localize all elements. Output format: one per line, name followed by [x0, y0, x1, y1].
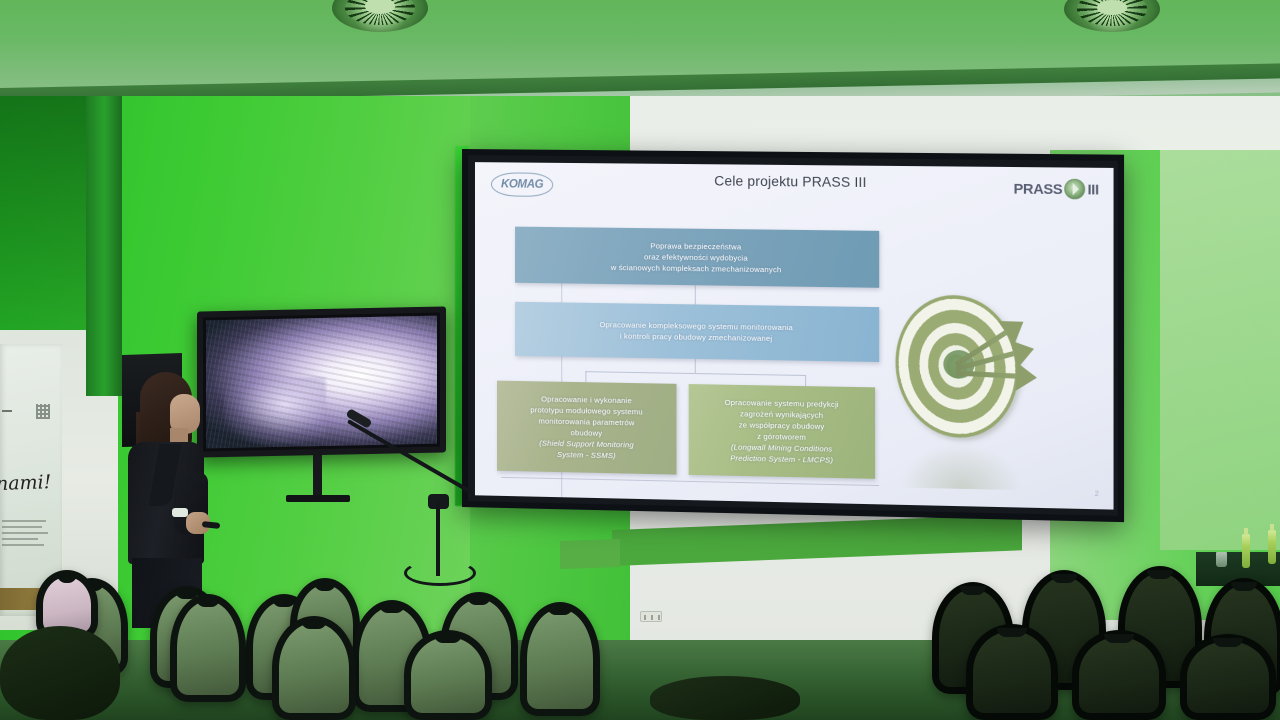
banner-qr-icon: [36, 404, 50, 419]
chair[interactable]: [966, 624, 1058, 720]
monitor-stand-pole: [313, 455, 322, 497]
slide-box-task-ssms: Opracowanie i wykonanie prototypu moduło…: [497, 381, 676, 475]
connector-a-b: [695, 285, 696, 304]
connector-to-c: [585, 371, 586, 382]
microphone-tripod-base: [404, 560, 476, 586]
prass-logo-numeral: III: [1088, 181, 1099, 198]
monitor-stand-base: [286, 495, 350, 502]
chair[interactable]: [520, 602, 600, 716]
box-line-italic: Prediction System - LMCPS): [730, 452, 833, 465]
monitor-noise: [206, 316, 437, 449]
connector-to-d: [805, 375, 806, 386]
prass-logo-text: PRASS: [1014, 180, 1063, 197]
projection-screen[interactable]: KOMAG Cele projektu PRASS III PRASS III …: [462, 149, 1124, 522]
wall-pillar: [86, 96, 122, 396]
dartboard-target-icon: [896, 286, 1060, 467]
box-line: i kontroli pracy obudowy zmechanizowanej: [620, 330, 773, 344]
slide-footer-rule: [501, 477, 879, 486]
box-line: ze współpracy obudowy: [739, 419, 825, 432]
water-bottle: [1242, 534, 1250, 568]
banner-body-lines: [2, 520, 48, 550]
banner-dash: [2, 410, 12, 412]
target-play-icon: [1064, 179, 1085, 200]
slide-box-goal-system: Opracowanie kompleksowego systemu monito…: [515, 302, 879, 362]
box-line: monitorowania parametrów: [539, 415, 635, 428]
audience-head: [650, 676, 800, 720]
chair[interactable]: [170, 594, 246, 702]
chair[interactable]: [1072, 630, 1166, 720]
water-bottle: [1268, 530, 1276, 564]
prass-logo: PRASS III: [1014, 175, 1099, 202]
connector-b-down: [695, 359, 696, 373]
drinking-glass: [1216, 552, 1227, 567]
slide-box-goal-main: Poprawa bezpieczeństwa oraz efektywności…: [515, 227, 879, 288]
chair[interactable]: [404, 630, 492, 720]
wall-right-pale: [1160, 150, 1280, 550]
conference-room-scene: KOMAG Cele projektu PRASS III PRASS III …: [0, 0, 1280, 720]
box-line-italic: System - SSMS): [557, 449, 616, 461]
banner-script-text: nami!: [0, 471, 58, 495]
slide-number: 2: [1095, 491, 1099, 498]
box-line: obudowy: [571, 427, 603, 439]
chair[interactable]: [1180, 634, 1276, 720]
target-reflection: [900, 441, 1023, 490]
wall-green-stripe-small: [560, 539, 620, 569]
monitor-screen: [206, 316, 437, 449]
audience-head: [0, 626, 120, 720]
chair[interactable]: [272, 616, 356, 720]
slide-surface: KOMAG Cele projektu PRASS III PRASS III …: [475, 162, 1114, 509]
confidence-monitor[interactable]: [197, 306, 446, 457]
box-line: w ścianowych kompleksach zmechanizowanyc…: [611, 261, 782, 274]
slide-header: KOMAG Cele projektu PRASS III PRASS III: [475, 162, 1114, 209]
slide-box-task-lmcps: Opracowanie systemu predykcji zagrożeń w…: [689, 384, 875, 479]
wall-outlet-icon: [640, 611, 662, 622]
presenter-cuff: [172, 508, 188, 517]
